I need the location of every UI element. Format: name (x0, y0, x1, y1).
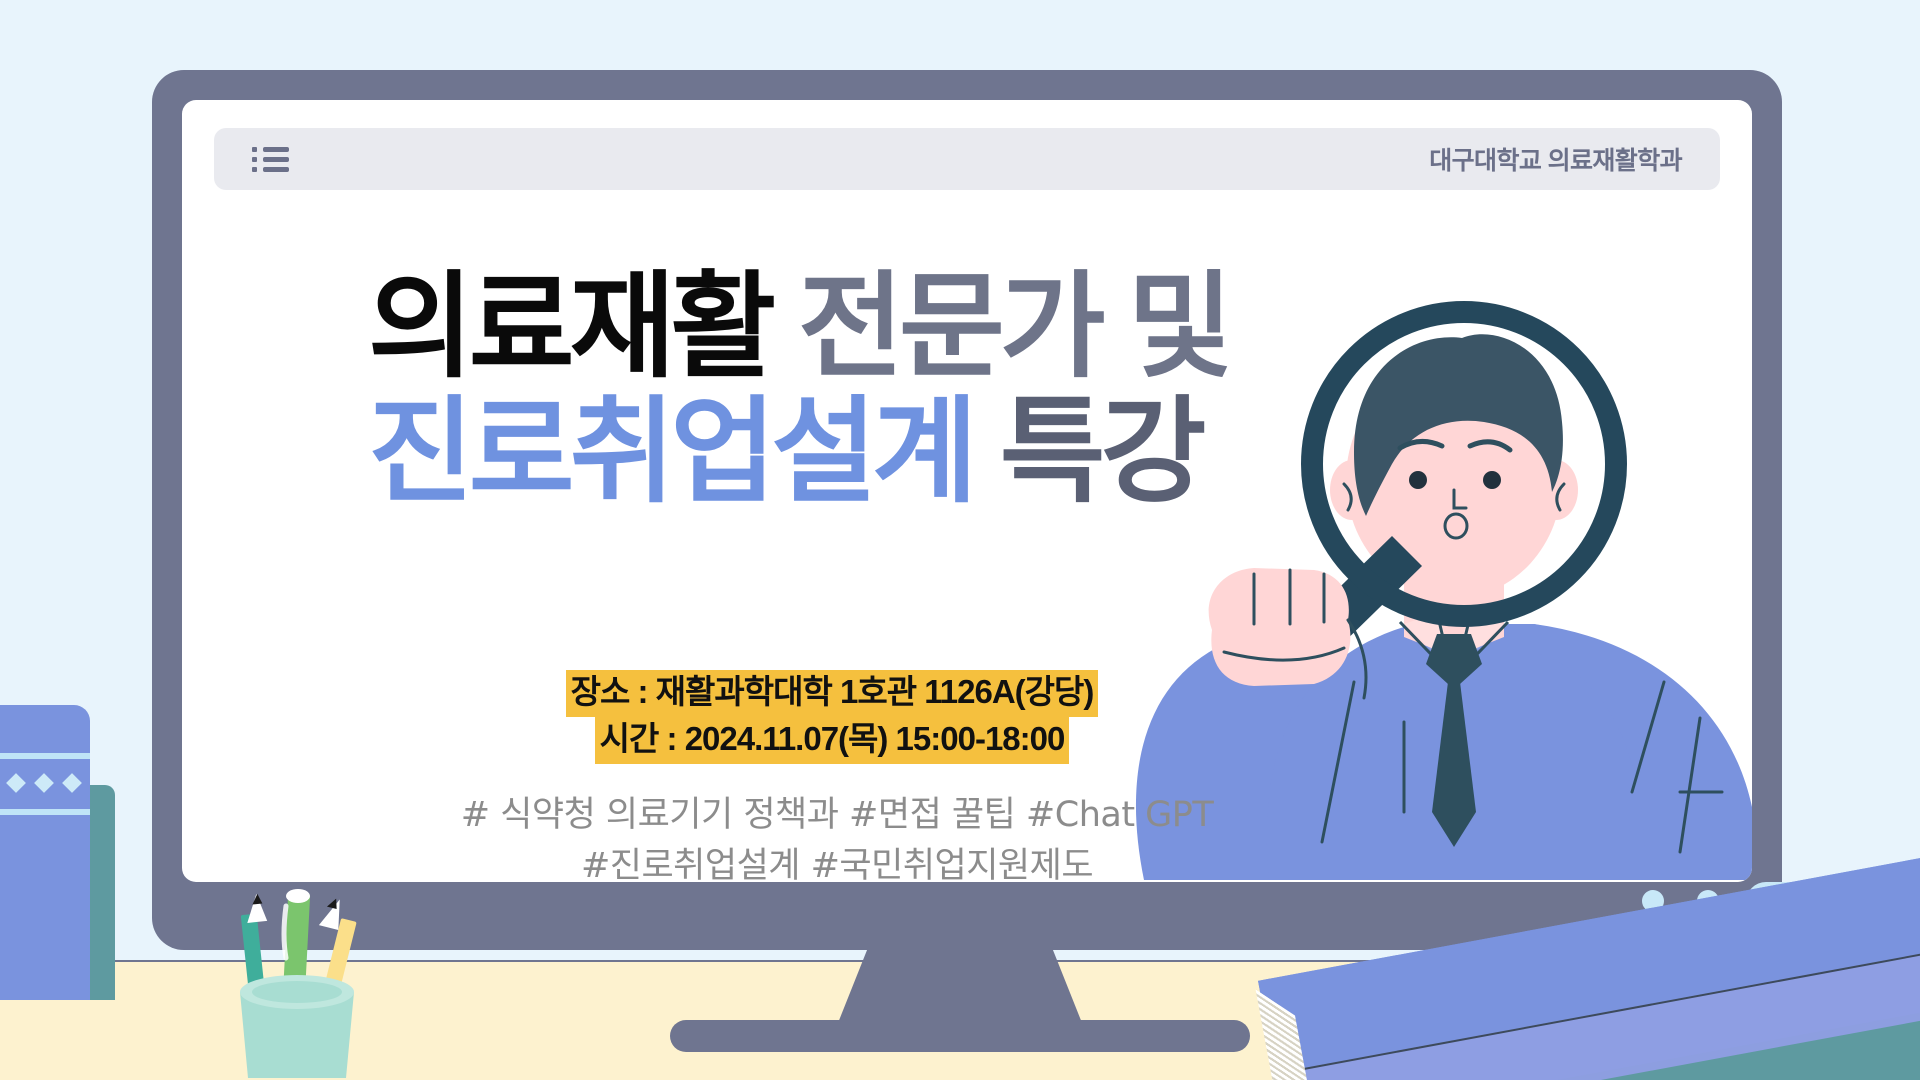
notebook-diamond-pattern (0, 768, 90, 798)
notebook-blue-left (0, 705, 90, 1000)
event-time-row: 시간 : 2024.11.07(목) 15:00-18:00 (482, 717, 1182, 764)
diamond-3 (34, 773, 54, 793)
headline-emphasis-2: 진로취업설계 (368, 388, 973, 516)
department-name: 대구대학교 의료재활학과 (1429, 141, 1682, 177)
headline-line-1: 의료재활 전문가 및 (368, 270, 1228, 385)
list-bullet-icon[interactable] (252, 147, 289, 172)
event-location-row: 장소 : 재활과학대학 1호관 1126A(강당) (482, 670, 1182, 717)
hashtag-line-2: #진로취업설계 #국민취업지원제도 (422, 841, 1252, 882)
headline-emphasis-1: 의료재활 (368, 263, 771, 391)
event-details: 장소 : 재활과학대학 1호관 1126A(강당) 시간 : 2024.11.0… (482, 670, 1182, 764)
monitor-frame: 대구대학교 의료재활학과 의료재활 전문가 및 진로취업설계 특강 장소 : 재… (152, 70, 1782, 950)
poster-scene: 대구대학교 의료재활학과 의료재활 전문가 및 진로취업설계 특강 장소 : 재… (0, 0, 1920, 1080)
diamond-2 (6, 773, 26, 793)
monitor-screen: 대구대학교 의료재활학과 의료재활 전문가 및 진로취업설계 특강 장소 : 재… (182, 100, 1752, 882)
notebook-band-bottom (0, 809, 90, 815)
hashtag-block: # 식약청 의료기기 정책과 #면접 꿀팁 #Chat GPT #진로취업설계 … (422, 790, 1252, 882)
list-row-1 (252, 147, 289, 152)
list-row-2 (252, 157, 289, 162)
headline-rest-1: 전문가 및 (771, 263, 1228, 391)
hashtag-line-1: # 식약청 의료기기 정책과 #면접 꿀팁 #Chat GPT (422, 790, 1252, 841)
list-row-3 (252, 167, 289, 172)
headline-rest-2: 특강 (973, 388, 1202, 516)
screen-topbar: 대구대학교 의료재활학과 (214, 128, 1720, 190)
notebook-band-top (0, 753, 90, 759)
diamond-4 (62, 773, 82, 793)
pencil-cup (222, 880, 372, 1080)
poster-headline: 의료재활 전문가 및 진로취업설계 특강 (368, 270, 1228, 510)
monitor-stand-base (670, 1020, 1250, 1052)
headline-line-2: 진로취업설계 특강 (368, 395, 1228, 510)
event-location: 장소 : 재활과학대학 1호관 1126A(강당) (566, 670, 1099, 717)
event-time: 시간 : 2024.11.07(목) 15:00-18:00 (595, 717, 1070, 764)
